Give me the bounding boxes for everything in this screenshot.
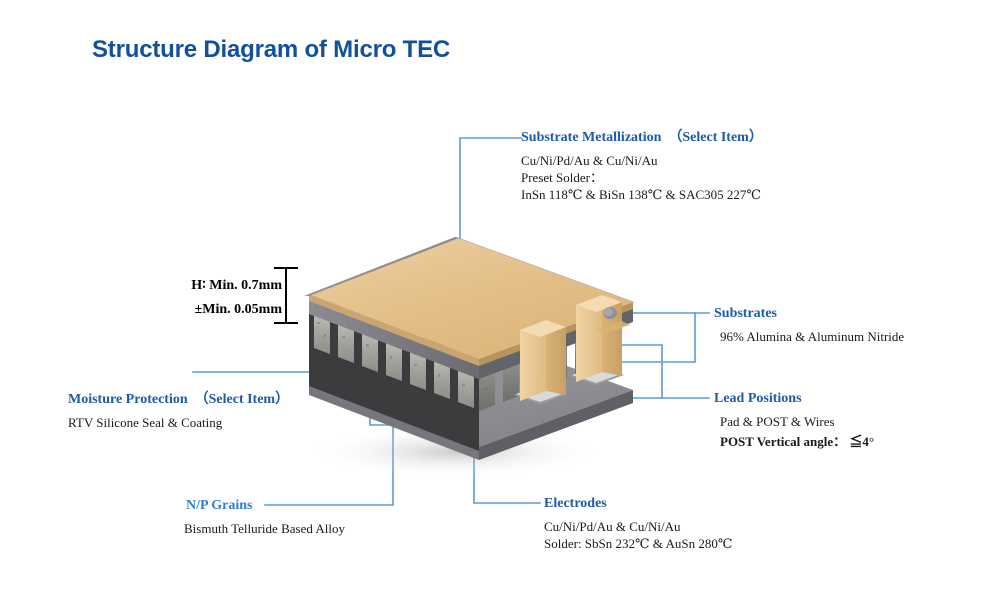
annotation-body: 96% Alumina & Aluminum Nitride [714,328,904,345]
annotation-heading: Moisture Protection（Select Item） [68,391,289,409]
body-line: Cu/Ni/Pd/Au & Cu/Ni/Au [544,518,732,535]
annotation-body: Bismuth Telluride Based Alloy [186,520,345,537]
body-line: RTV Silicone Seal & Coating [68,414,289,431]
body-line: Pad & POST & Wires [720,413,874,430]
select-item-tag: （Select Item） [195,392,289,407]
heading-text: Substrate Metallization [521,130,661,145]
heading-text: Substrates [714,306,777,321]
annotation-body: RTV Silicone Seal & Coating [68,414,289,431]
body-line: Solder: SbSn 232℃ & AuSn 280℃ [544,535,732,552]
select-item-tag: （Select Item） [668,130,762,145]
body-line-bold: POST Vertical angle： ≦4° [720,433,874,450]
heading-text: N/P Grains [186,498,253,513]
body-line: InSn 118℃ & BiSn 138℃ & SAC305 227℃ [521,186,763,203]
annotation-body: Cu/Ni/Pd/Au & Cu/Ni/Au Solder: SbSn 232℃… [544,518,732,552]
body-line: 96% Alumina & Aluminum Nitride [720,328,904,345]
dimension-marker-layer [0,0,981,601]
annotation-heading: Substrates [714,305,904,323]
body-line: Preset Solder： [521,169,763,186]
annotation-heading: Lead Positions [714,390,874,408]
annotation-heading: Electrodes [544,495,732,513]
heading-text: Moisture Protection [68,392,188,407]
annotation-heading: Substrate Metallization（Select Item） [521,129,763,147]
annotation-lead-positions: Lead Positions Pad & POST & Wires POST V… [714,390,874,450]
dimension-line-2: ±Min. 0.05mm [152,298,282,322]
annotation-moisture-protection: Moisture Protection（Select Item） RTV Sil… [68,391,289,431]
dimension-line-1: H∶ Min. 0.7mm [152,274,282,298]
body-line: Bismuth Telluride Based Alloy [184,520,345,537]
height-dimension-label: H∶ Min. 0.7mm ±Min. 0.05mm [152,274,282,322]
heading-text: Electrodes [544,496,607,511]
annotation-heading: N/P Grains [186,497,345,515]
annotation-body: Pad & POST & Wires POST Vertical angle： … [714,413,874,450]
page-title: Structure Diagram of Micro TEC [92,36,450,64]
annotation-np-grains: N/P Grains Bismuth Telluride Based Alloy [186,497,345,537]
annotation-electrodes: Electrodes Cu/Ni/Pd/Au & Cu/Ni/Au Solder… [544,495,732,552]
body-line: Cu/Ni/Pd/Au & Cu/Ni/Au [521,152,763,169]
annotation-body: Cu/Ni/Pd/Au & Cu/Ni/Au Preset Solder： In… [521,152,763,203]
annotation-substrate-metallization: Substrate Metallization（Select Item） Cu/… [521,129,763,203]
heading-text: Lead Positions [714,391,802,406]
annotation-substrates: Substrates 96% Alumina & Aluminum Nitrid… [714,305,904,345]
